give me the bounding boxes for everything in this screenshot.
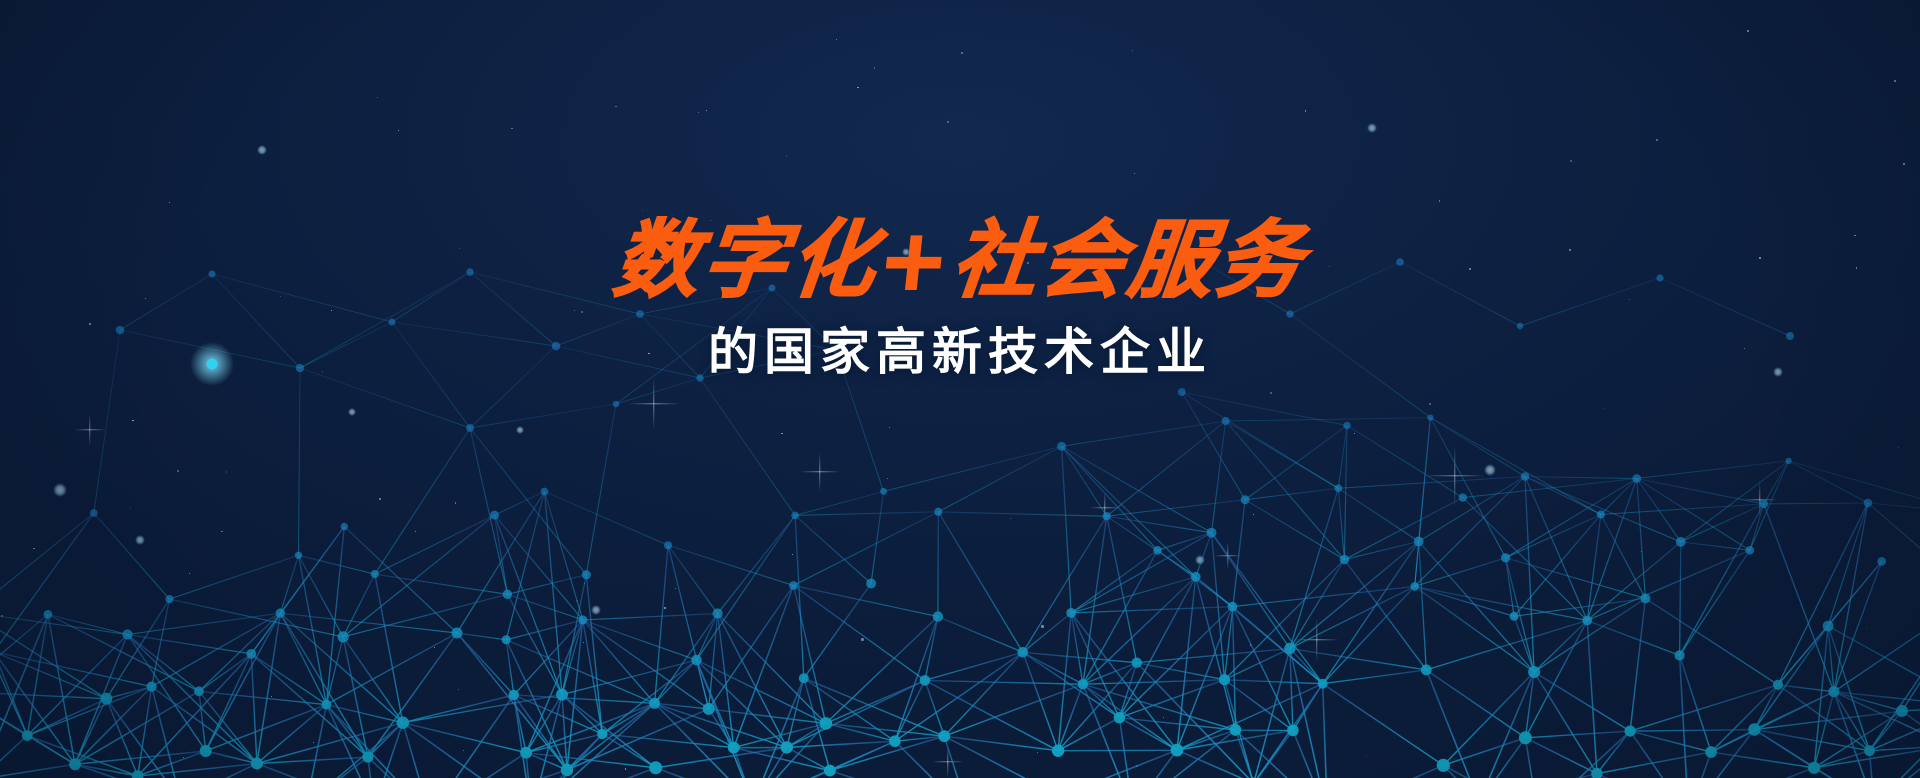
mesh-node — [276, 608, 285, 617]
mesh-node — [371, 570, 379, 578]
mesh-node — [1414, 537, 1424, 547]
mesh-node — [1759, 500, 1768, 509]
star — [398, 130, 399, 131]
mesh-node — [920, 675, 931, 686]
mesh-node — [90, 509, 98, 517]
star — [1132, 50, 1133, 51]
mesh-node — [1519, 731, 1532, 744]
glow-dot — [1367, 123, 1377, 133]
mesh-node — [820, 717, 833, 730]
banner-stage: 数字化+社会服务 的国家高新技术企业 — [0, 0, 1920, 778]
mesh-node — [509, 690, 519, 700]
star — [169, 202, 170, 203]
mesh-node — [1078, 679, 1088, 689]
mesh-node — [101, 693, 113, 705]
mesh-node — [561, 764, 574, 777]
star — [1894, 80, 1896, 82]
mesh-node — [1521, 472, 1530, 481]
mesh-node — [933, 611, 943, 621]
mesh-node — [200, 745, 212, 757]
mesh-node — [1676, 537, 1686, 547]
star — [857, 87, 858, 88]
star — [1747, 30, 1749, 32]
mesh-node — [22, 730, 33, 741]
mesh-node — [1705, 746, 1717, 758]
mesh-node — [541, 488, 549, 496]
star — [786, 155, 788, 157]
star — [1656, 139, 1658, 141]
mesh-node — [1582, 616, 1592, 626]
mesh-node — [1510, 612, 1519, 621]
mesh-node — [466, 424, 474, 432]
mesh-node — [1228, 602, 1238, 612]
mesh-node — [781, 741, 793, 753]
mesh-node — [938, 730, 950, 742]
mesh-node — [1178, 388, 1186, 396]
mesh-node — [1222, 417, 1230, 425]
star — [836, 39, 837, 40]
mesh-node — [1052, 745, 1064, 757]
mesh-node — [934, 508, 942, 516]
mesh-node — [1625, 726, 1636, 737]
mesh-node — [147, 682, 157, 692]
mesh-node — [713, 608, 723, 618]
mesh-node — [556, 689, 568, 701]
mesh-node — [1410, 582, 1419, 591]
mesh-node — [1828, 686, 1839, 697]
mesh-node — [791, 512, 799, 520]
mesh-node — [1018, 647, 1029, 658]
mesh-node — [1343, 422, 1351, 430]
mesh-node — [452, 628, 463, 639]
star — [1570, 160, 1572, 162]
mesh-node — [1191, 572, 1201, 582]
mesh-node — [824, 765, 836, 777]
mesh-node — [44, 610, 53, 619]
mesh-node — [1808, 762, 1820, 774]
mesh-node — [1334, 484, 1342, 492]
mesh-node — [1114, 712, 1125, 723]
mesh-node — [1528, 666, 1540, 678]
mesh-node — [582, 570, 591, 579]
mesh-node — [1823, 621, 1834, 632]
page-title: 数字化+社会服务 — [0, 212, 1920, 308]
mesh-node — [520, 747, 532, 759]
mesh-node — [1287, 725, 1299, 737]
mesh-node — [1785, 458, 1791, 464]
mesh-node — [490, 511, 499, 520]
mesh-node — [799, 673, 809, 683]
mesh-node — [1640, 593, 1650, 603]
star — [1134, 173, 1135, 174]
mesh-node — [613, 401, 620, 408]
star — [377, 97, 378, 98]
star — [961, 52, 963, 54]
mesh-node — [1773, 680, 1783, 690]
star — [698, 112, 699, 113]
mesh-node — [69, 758, 81, 770]
star — [1305, 110, 1307, 112]
mesh-node — [1284, 643, 1295, 654]
mesh-node — [1207, 528, 1217, 538]
glow-dot — [257, 145, 267, 155]
mesh-node — [1057, 442, 1066, 451]
mesh-node — [649, 698, 660, 709]
mesh-node — [1864, 745, 1875, 756]
mesh-node — [866, 579, 876, 589]
mesh-node — [664, 541, 672, 549]
mesh-node — [246, 649, 256, 659]
mesh-node — [165, 595, 173, 603]
mesh-node — [1427, 415, 1433, 421]
mesh-node — [295, 552, 302, 559]
mesh-node — [194, 686, 204, 696]
mesh-node — [1597, 510, 1605, 518]
mesh-node — [880, 488, 887, 495]
mesh-node — [578, 615, 587, 624]
mesh-node — [1318, 679, 1328, 689]
mesh-node — [122, 629, 132, 639]
mesh-node — [251, 758, 263, 770]
mesh-node — [503, 590, 512, 599]
mesh-node — [1632, 474, 1641, 483]
star — [947, 121, 949, 123]
mesh-node — [1132, 658, 1142, 668]
mesh-node — [397, 717, 409, 729]
star — [874, 67, 875, 68]
star — [1439, 200, 1441, 202]
mesh-node — [1219, 674, 1230, 685]
mesh-node — [1675, 650, 1685, 660]
mesh-node — [1421, 665, 1432, 676]
banner-text-block: 数字化+社会服务 的国家高新技术企业 — [0, 212, 1920, 382]
mesh-node — [889, 735, 901, 747]
mesh-node — [1066, 608, 1076, 618]
mesh-node — [1153, 546, 1162, 555]
mesh-node — [789, 581, 798, 590]
mesh-node — [691, 655, 702, 666]
mesh-node — [1501, 553, 1510, 562]
mesh-node — [1896, 705, 1908, 717]
mesh-node — [1340, 555, 1349, 564]
star — [706, 110, 707, 111]
page-subtitle: 的国家高新技术企业 — [0, 322, 1920, 382]
mesh-node — [362, 752, 373, 763]
mesh-node — [649, 761, 662, 774]
mesh-node — [1103, 512, 1111, 520]
mesh-node — [1230, 724, 1242, 736]
mesh-node — [728, 742, 740, 754]
mesh-node — [1748, 723, 1760, 735]
mesh-node — [502, 635, 511, 644]
mesh-node — [1746, 546, 1755, 555]
mesh-node — [1459, 493, 1467, 501]
mesh-node — [703, 703, 715, 715]
mesh-node — [1864, 499, 1873, 508]
mesh-node — [1437, 759, 1450, 772]
star — [1903, 163, 1905, 165]
star — [511, 128, 513, 130]
mesh-node — [1171, 744, 1184, 757]
mesh-node — [1241, 495, 1250, 504]
mesh-node — [597, 729, 607, 739]
mesh-node — [338, 631, 349, 642]
star — [615, 106, 617, 108]
mesh-node — [341, 523, 348, 530]
mesh-node — [1877, 557, 1886, 566]
mesh-node — [321, 700, 331, 710]
